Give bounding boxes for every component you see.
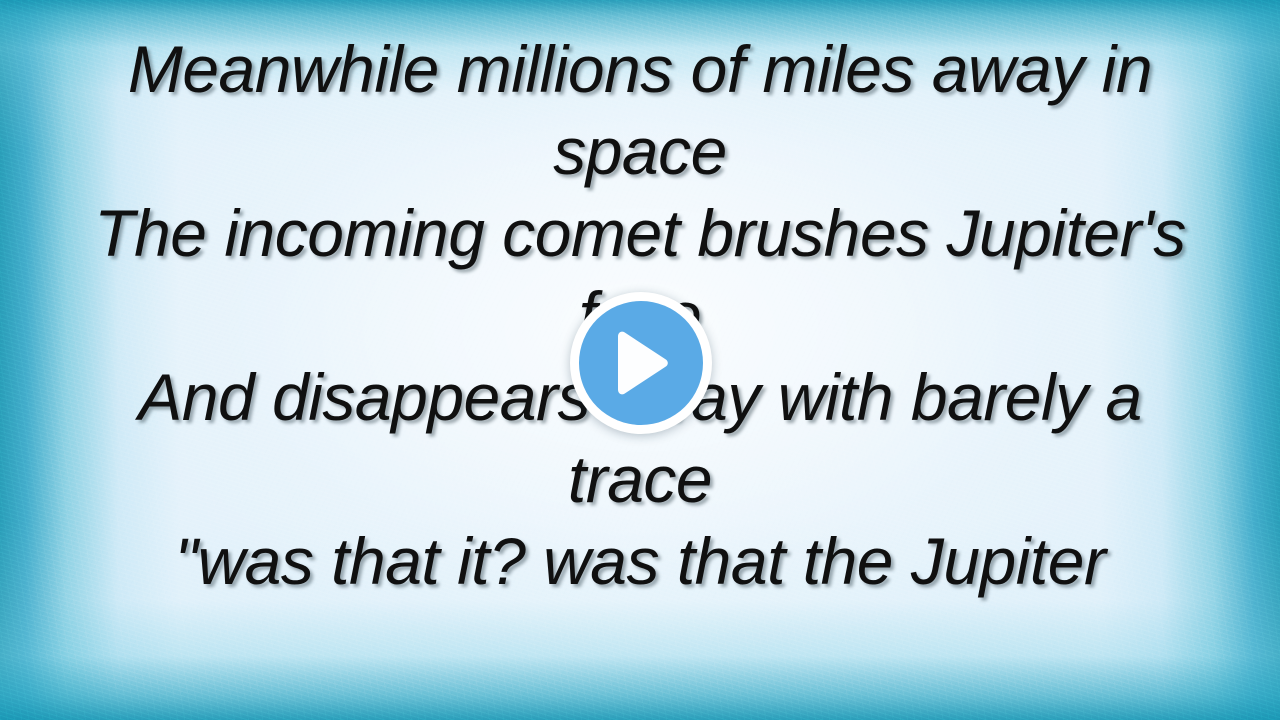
lyric-line: The incoming comet brushes Jupiter's bbox=[40, 192, 1240, 274]
lyric-line: trace bbox=[40, 438, 1240, 520]
video-player: Meanwhile millions of miles away in spac… bbox=[0, 0, 1280, 720]
play-triangle-icon bbox=[608, 329, 674, 397]
play-button[interactable] bbox=[570, 292, 712, 434]
lyric-line: space bbox=[40, 110, 1240, 192]
lyric-line: "was that it? was that the Jupiter bbox=[40, 520, 1240, 602]
lyric-line: Meanwhile millions of miles away in bbox=[40, 28, 1240, 110]
play-button-disc bbox=[579, 301, 703, 425]
